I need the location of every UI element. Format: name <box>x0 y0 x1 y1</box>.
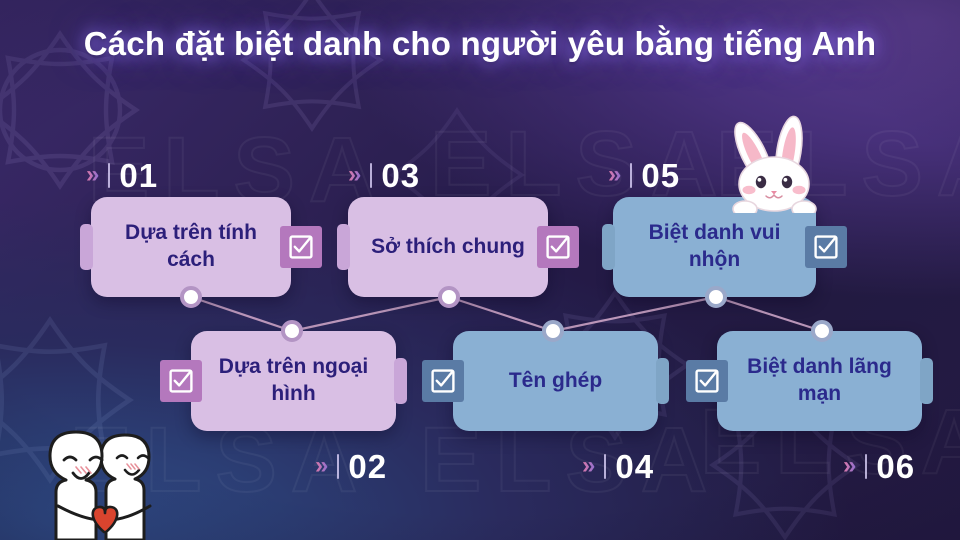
step-number: 04 <box>615 450 654 483</box>
step-label: Biệt danh vui nhộn <box>613 220 816 274</box>
card-nub <box>80 224 93 270</box>
page-title: Cách đặt biệt danh cho người yêu bằng ti… <box>40 22 920 66</box>
checkbox-checked-icon[interactable] <box>422 360 464 402</box>
couple-hugging-heart-mascot <box>26 422 186 540</box>
card-nub <box>656 358 669 404</box>
infographic-canvas: ELSA ELSA ELSA ELSA ELSA ELSA Cách đặt b… <box>0 0 960 540</box>
connector-node <box>180 286 202 308</box>
checkbox-checked-icon[interactable] <box>160 360 202 402</box>
marker-divider <box>865 454 867 479</box>
chevron-right-double-icon: » <box>582 454 595 478</box>
chevron-right-double-icon: » <box>843 454 856 478</box>
card-nub <box>337 224 350 270</box>
step-number: 01 <box>119 159 158 192</box>
marker-divider <box>370 163 372 188</box>
step-marker-06: » 06 <box>843 447 915 485</box>
card-nub <box>920 358 933 404</box>
checkbox-checked-icon[interactable] <box>280 226 322 268</box>
chevron-right-double-icon: » <box>608 163 621 187</box>
step-card-03[interactable]: Sở thích chung <box>348 197 548 297</box>
marker-divider <box>108 163 110 188</box>
step-number: 02 <box>348 450 387 483</box>
step-label: Sở thích chung <box>355 234 541 261</box>
marker-divider <box>604 454 606 479</box>
step-card-02[interactable]: Dựa trên ngoại hình <box>191 331 396 431</box>
step-marker-05: » 05 <box>608 156 680 194</box>
connector-node <box>542 320 564 342</box>
checkbox-checked-icon[interactable] <box>805 226 847 268</box>
bunny-mascot <box>716 113 834 218</box>
step-number: 03 <box>381 159 420 192</box>
step-marker-01: » 01 <box>86 156 158 194</box>
step-label: Dựa trên ngoại hình <box>191 354 396 408</box>
step-card-06[interactable]: Biệt danh lãng mạn <box>717 331 922 431</box>
step-marker-04: » 04 <box>582 447 654 485</box>
step-number: 05 <box>641 159 680 192</box>
step-marker-02: » 02 <box>315 447 387 485</box>
step-label: Tên ghép <box>493 368 618 395</box>
chevron-right-double-icon: » <box>315 454 328 478</box>
marker-divider <box>630 163 632 188</box>
connector-node <box>705 286 727 308</box>
checkbox-checked-icon[interactable] <box>537 226 579 268</box>
connector-node <box>438 286 460 308</box>
connector-node <box>811 320 833 342</box>
step-number: 06 <box>876 450 915 483</box>
chevron-right-double-icon: » <box>86 163 99 187</box>
step-marker-03: » 03 <box>348 156 420 194</box>
checkbox-checked-icon[interactable] <box>686 360 728 402</box>
marker-divider <box>337 454 339 479</box>
connector-node <box>281 320 303 342</box>
step-label: Biệt danh lãng mạn <box>717 354 922 408</box>
step-card-04[interactable]: Tên ghép <box>453 331 658 431</box>
step-label: Dựa trên tính cách <box>91 220 291 274</box>
chevron-right-double-icon: » <box>348 163 361 187</box>
card-nub <box>394 358 407 404</box>
step-card-01[interactable]: Dựa trên tính cách <box>91 197 291 297</box>
card-nub <box>602 224 615 270</box>
